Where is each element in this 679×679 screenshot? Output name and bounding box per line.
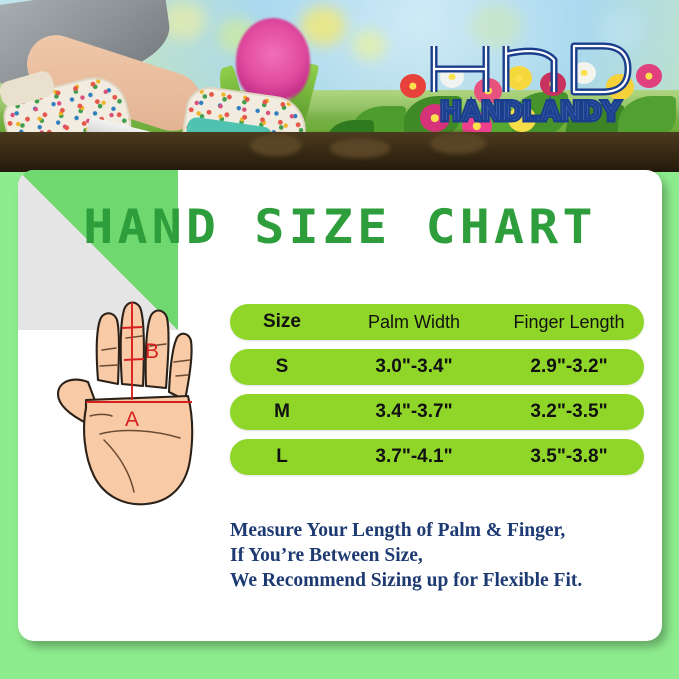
photo-soil bbox=[0, 132, 679, 172]
size-chart-card: HAND SIZE CHART bbox=[18, 170, 662, 641]
hand-size-chart-page: HANDLANDY HANDLANDY HAND SIZE CHART bbox=[0, 0, 679, 679]
sizing-note-line-2: If You’re Between Size, bbox=[230, 543, 660, 568]
hand-measurement-diagram: A B bbox=[42, 288, 222, 513]
brand-name: HANDLANDY bbox=[424, 96, 638, 127]
cell-finger-length: 3.5"-3.8" bbox=[494, 446, 644, 468]
photo-flower bbox=[400, 74, 426, 98]
photo-bokeh bbox=[352, 30, 386, 60]
photo-soil-clump bbox=[250, 134, 302, 156]
cell-finger-length: 2.9"-3.2" bbox=[494, 356, 644, 378]
photo-soil-clump bbox=[330, 138, 390, 158]
column-header-palm-width: Palm Width bbox=[334, 312, 494, 333]
sizing-note-line-1: Measure Your Length of Palm & Finger, bbox=[230, 518, 660, 543]
page-title: HAND SIZE CHART bbox=[0, 200, 679, 255]
photo-flower bbox=[636, 64, 662, 88]
hd-monogram-icon bbox=[424, 40, 638, 98]
finger-tick bbox=[124, 359, 144, 360]
table-header-row: Size Palm Width Finger Length bbox=[230, 304, 644, 340]
table-row: M 3.4"-3.7" 3.2"-3.5" bbox=[230, 394, 644, 430]
handlandy-logo: HANDLANDY HANDLANDY bbox=[424, 40, 638, 136]
photo-bokeh bbox=[300, 6, 346, 46]
cell-palm-width: 3.0"-3.4" bbox=[334, 356, 494, 378]
cell-finger-length: 3.2"-3.5" bbox=[494, 401, 644, 423]
finger-tick bbox=[122, 327, 142, 328]
column-header-finger-length: Finger Length bbox=[494, 312, 644, 333]
sizing-note-line-3: We Recommend Sizing up for Flexible Fit. bbox=[230, 568, 660, 593]
cell-size: S bbox=[230, 356, 334, 378]
size-table: Size Palm Width Finger Length S 3.0"-3.4… bbox=[230, 304, 644, 484]
label-palm-width: A bbox=[125, 408, 139, 431]
cell-size: M bbox=[230, 401, 334, 423]
cell-palm-width: 3.7"-4.1" bbox=[334, 446, 494, 468]
table-row: S 3.0"-3.4" 2.9"-3.2" bbox=[230, 349, 644, 385]
label-finger-length: B bbox=[145, 340, 159, 363]
sizing-note: Measure Your Length of Palm & Finger, If… bbox=[230, 518, 660, 593]
cell-palm-width: 3.4"-3.7" bbox=[334, 401, 494, 423]
column-header-size: Size bbox=[230, 311, 334, 333]
hand-illustration-icon: A B bbox=[42, 288, 222, 513]
cell-size: L bbox=[230, 446, 334, 468]
table-row: L 3.7"-4.1" 3.5"-3.8" bbox=[230, 439, 644, 475]
